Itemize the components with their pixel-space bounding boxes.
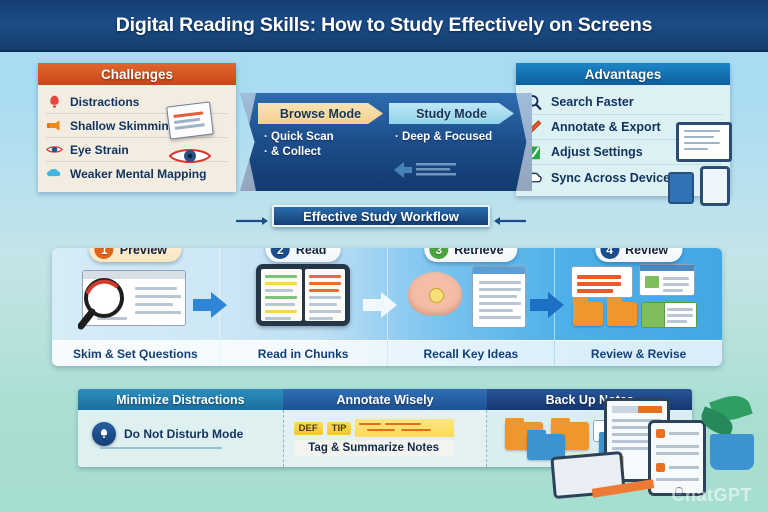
- workflow-step-1-label: Preview: [120, 248, 167, 257]
- study-mode-chip[interactable]: Study Mode: [389, 103, 514, 124]
- plant-pot-icon: [710, 434, 754, 470]
- tag-def[interactable]: DEF: [294, 422, 323, 435]
- note-card-illustration: [166, 101, 214, 139]
- tag-row: DEF TIP: [294, 419, 454, 437]
- workflow-banner-label: Effective Study Workflow: [303, 209, 459, 224]
- tag-tip[interactable]: TIP: [327, 422, 352, 435]
- brain-cloud-icon: [46, 167, 63, 182]
- bell-alert-icon: [46, 94, 63, 109]
- workflow-arrow-2-3-icon: [363, 290, 397, 320]
- browse-bullet: Quick Scan: [264, 130, 383, 145]
- workflow-step-1-pill[interactable]: 1 Preview: [90, 248, 181, 262]
- poster-title-bar: Digital Reading Skills: How to Study Eff…: [0, 0, 768, 52]
- page-title-lead: Digital Reading Skills:: [116, 14, 316, 36]
- workflow-step-3-label: Retrieve: [454, 248, 503, 257]
- advantages-heading: Advantages: [516, 63, 730, 85]
- focus-doodle-icon: [392, 159, 462, 181]
- divider: [100, 447, 222, 449]
- tip-minimize-distractions[interactable]: Minimize Distractions Do Not Disturb Mod…: [78, 389, 283, 467]
- eye-illustration: [168, 146, 212, 166]
- tip-2-heading: Annotate Wisely: [283, 389, 488, 410]
- study-workflow-strip: 1 Preview: [52, 248, 722, 366]
- do-not-disturb-row[interactable]: Do Not Disturb Mode: [92, 422, 243, 446]
- tip-2-body: DEF TIP Tag & Summarize Notes: [283, 410, 488, 467]
- workflow-step-3-pill[interactable]: 3 Retrieve: [424, 248, 517, 262]
- workflow-step-2-number: 2: [271, 248, 290, 259]
- tablet-illustration: [700, 166, 730, 206]
- study-mode-bullets: Deep & Focused: [389, 124, 514, 145]
- advantage-label: Search Faster: [551, 95, 634, 109]
- browse-bullet: & Collect: [264, 145, 383, 160]
- phone-illustration: [668, 172, 694, 204]
- eye-icon: [46, 142, 63, 157]
- watermark: ChatGPT: [671, 485, 752, 506]
- advantage-label: Sync Across Devices: [551, 171, 677, 185]
- tip-annotate-wisely[interactable]: Annotate Wisely DEF TIP Tag & Summarize …: [283, 389, 488, 467]
- workflow-step-1-caption: Skim & Set Questions: [73, 347, 198, 361]
- workflow-step-1[interactable]: 1 Preview: [52, 248, 219, 366]
- tip-1-body: Do Not Disturb Mode: [78, 410, 283, 467]
- advantage-label: Annotate & Export: [551, 120, 661, 134]
- browse-mode-bullets: Quick Scan & Collect: [258, 124, 383, 160]
- mode-columns: Browse Mode Quick Scan & Collect Study M…: [258, 103, 514, 160]
- workflow-step-4-number: 4: [600, 248, 619, 259]
- mode-column-study: Study Mode Deep & Focused: [389, 103, 514, 160]
- workflow-step-2-pill[interactable]: 2 Read: [266, 248, 341, 262]
- workflow-step-1-caption-bar: Skim & Set Questions: [52, 340, 219, 366]
- workflow-step-2[interactable]: 2 Read: [219, 248, 387, 366]
- workflow-banner: Effective Study Workflow: [272, 205, 490, 227]
- annotation-demo: DEF TIP Tag & Summarize Notes: [294, 419, 454, 456]
- challenge-label: Eye Strain: [70, 143, 129, 157]
- browse-mode-chip[interactable]: Browse Mode: [258, 103, 383, 124]
- infographic-poster: Digital Reading Skills: How to Study Eff…: [0, 0, 768, 512]
- workflow-step-3-caption-bar: Recall Key Ideas: [388, 340, 555, 366]
- workflow-step-4[interactable]: 4 Review: [554, 248, 722, 366]
- read-book-illustration: [220, 252, 387, 334]
- workflow-arrow-1-2-icon: [193, 290, 227, 320]
- advantage-item-search-faster: Search Faster: [525, 90, 722, 115]
- reading-modes-ribbon: Browse Mode Quick Scan & Collect Study M…: [240, 93, 532, 191]
- challenge-label: Weaker Mental Mapping: [70, 167, 206, 181]
- workflow-arrow-left-icon: [236, 212, 268, 220]
- annotation-caption: Tag & Summarize Notes: [294, 440, 454, 456]
- workflow-step-2-label: Read: [296, 248, 327, 257]
- do-not-disturb-label: Do Not Disturb Mode: [124, 427, 243, 441]
- workflow-step-4-caption-bar: Review & Revise: [555, 340, 722, 366]
- skim-hand-icon: [46, 118, 63, 133]
- workflow-step-4-pill[interactable]: 4 Review: [595, 248, 682, 262]
- workflow-step-3-caption: Recall Key Ideas: [424, 347, 519, 361]
- workflow-step-2-caption: Read in Chunks: [258, 347, 349, 361]
- workflow-arrow-3-4-icon: [530, 290, 564, 320]
- workflow-step-4-caption: Review & Revise: [591, 347, 686, 361]
- workflow-arrow-right-icon: [494, 212, 526, 220]
- workflow-step-1-number: 1: [95, 248, 114, 259]
- advantage-label: Adjust Settings: [551, 145, 643, 159]
- retrieve-brain-illustration: [388, 252, 555, 334]
- workflow-step-3[interactable]: 3 Retrieve Recall Ke: [387, 248, 555, 366]
- workflow-step-4-label: Review: [625, 248, 668, 257]
- challenge-label: Shallow Skimming: [70, 119, 176, 133]
- workflow-step-3-number: 3: [429, 248, 448, 259]
- review-windows-illustration: [555, 252, 722, 334]
- challenge-label: Distractions: [70, 95, 139, 109]
- tip-1-heading: Minimize Distractions: [78, 389, 283, 410]
- bell-icon: [92, 422, 116, 446]
- mode-column-browse: Browse Mode Quick Scan & Collect: [258, 103, 383, 160]
- page-title-rest: How to Study Effectively on Screens: [316, 14, 652, 36]
- page-title: Digital Reading Skills: How to Study Eff…: [116, 14, 653, 37]
- challenges-heading: Challenges: [38, 63, 236, 85]
- desktop-monitor-illustration: [676, 122, 732, 162]
- highlighted-text-icon: [355, 419, 453, 437]
- workflow-step-2-caption-bar: Read in Chunks: [220, 340, 387, 366]
- study-bullet: Deep & Focused: [395, 130, 514, 145]
